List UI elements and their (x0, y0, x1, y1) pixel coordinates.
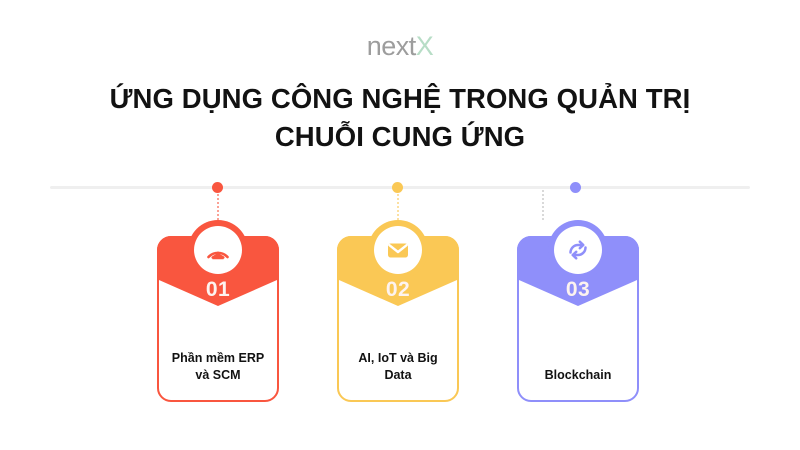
timeline-dot-3 (570, 182, 581, 193)
card-2-label: AI, IoT và Big Data (345, 350, 451, 384)
card-1-label: Phần mềm ERP và SCM (165, 350, 271, 384)
timeline-connector-1 (217, 190, 219, 220)
sync-arrows-icon (554, 226, 602, 274)
card-3-label: Blockchain (525, 367, 631, 384)
timeline-connector-2 (397, 190, 399, 220)
logo-text-next: next (367, 31, 416, 61)
logo-text-x: X (416, 31, 434, 61)
timeline-connector-3 (542, 190, 544, 220)
step-card-2[interactable]: 02 AI, IoT và Big Data (337, 220, 459, 402)
card-3-number: 03 (517, 278, 639, 302)
page-title-line-2: CHUỖI CUNG ỨNG (60, 118, 740, 156)
envelope-icon (374, 226, 422, 274)
step-card-3[interactable]: 03 Blockchain (517, 220, 639, 402)
step-card-1[interactable]: 01 Phần mềm ERP và SCM (157, 220, 279, 402)
page-title-line-1: ỨNG DỤNG CÔNG NGHỆ TRONG QUẢN TRỊ (60, 80, 740, 118)
broadcast-signal-icon (194, 226, 242, 274)
brand-logo: nextX (0, 30, 800, 62)
card-1-number: 01 (157, 278, 279, 302)
page-title: ỨNG DỤNG CÔNG NGHỆ TRONG QUẢN TRỊ CHUỖI … (60, 80, 740, 156)
infographic-page: nextX ỨNG DỤNG CÔNG NGHỆ TRONG QUẢN TRỊ … (0, 0, 800, 450)
card-2-number: 02 (337, 278, 459, 302)
